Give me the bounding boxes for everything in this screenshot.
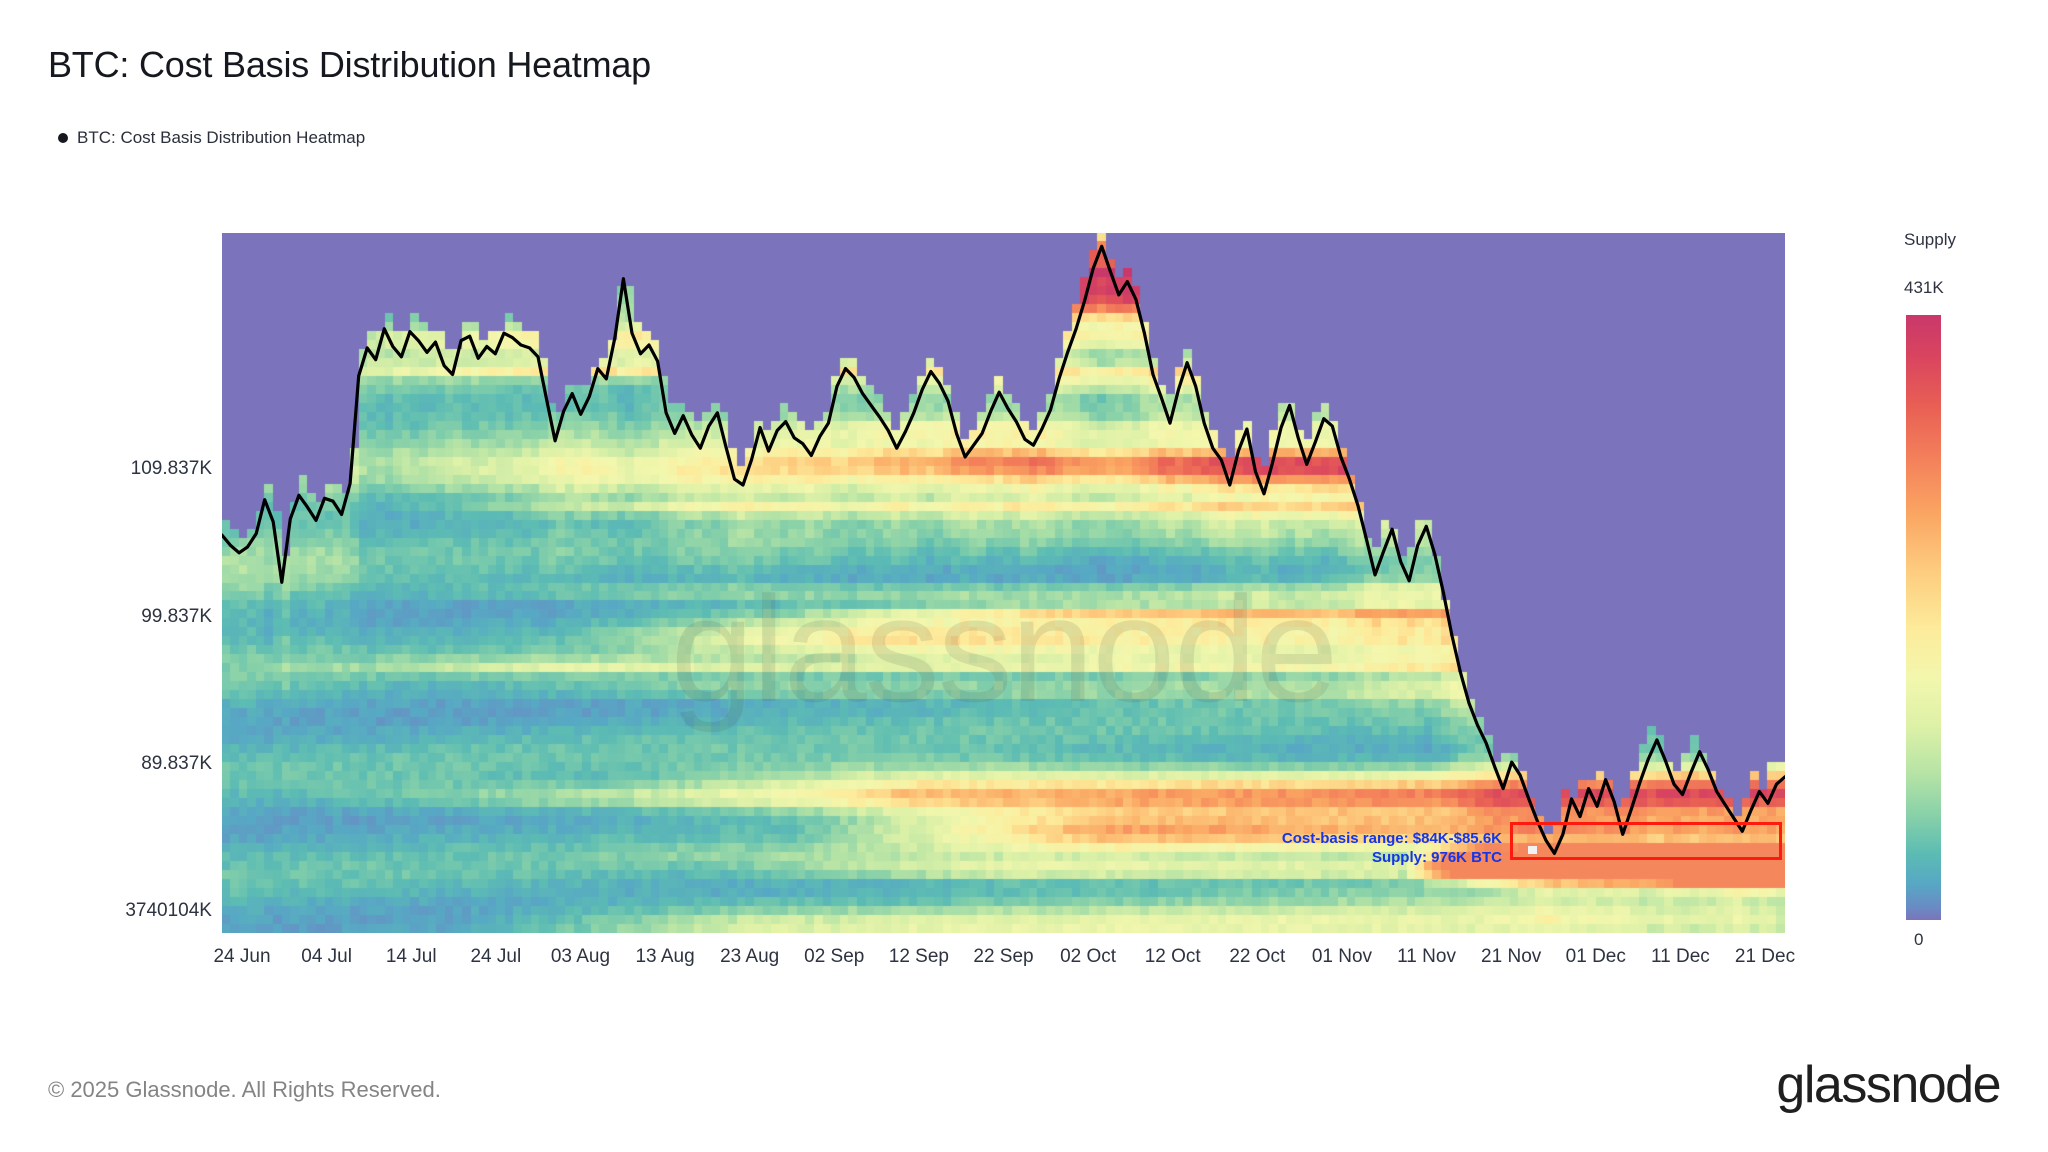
annotation-line-supply: Supply: 976K BTC bbox=[1262, 848, 1502, 867]
y-axis-tick-label: 89.837K bbox=[2, 753, 212, 775]
x-axis-tick-label: 21 Nov bbox=[1481, 946, 1541, 968]
colorbar: Supply 431K 0 bbox=[1888, 230, 2038, 970]
chart-page: BTC: Cost Basis Distribution Heatmap BTC… bbox=[0, 0, 2048, 1152]
x-axis: 24 Jun04 Jul14 Jul24 Jul03 Aug13 Aug23 A… bbox=[222, 946, 1785, 986]
x-axis-tick-label: 22 Oct bbox=[1229, 946, 1285, 968]
x-axis-tick-label: 01 Dec bbox=[1566, 946, 1626, 968]
highlight-marker bbox=[1528, 846, 1537, 854]
x-axis-tick-label: 12 Oct bbox=[1145, 946, 1201, 968]
colorbar-gradient bbox=[1906, 315, 1941, 920]
x-axis-tick-label: 14 Jul bbox=[386, 946, 437, 968]
x-axis-tick-label: 02 Oct bbox=[1060, 946, 1116, 968]
x-axis-tick-label: 11 Dec bbox=[1651, 946, 1710, 968]
x-axis-tick-label: 02 Sep bbox=[804, 946, 864, 968]
x-axis-tick-label: 21 Dec bbox=[1735, 946, 1795, 968]
x-axis-tick-label: 24 Jun bbox=[213, 946, 270, 968]
heatmap-plot-area[interactable]: glassnode bbox=[222, 233, 1785, 933]
y-axis-tick-label: 109.837K bbox=[2, 458, 212, 480]
footer-copyright: © 2025 Glassnode. All Rights Reserved. bbox=[48, 1077, 441, 1103]
x-axis-tick-label: 12 Sep bbox=[889, 946, 949, 968]
glassnode-logo: glassnode bbox=[1776, 1055, 2000, 1115]
y-axis-tick-label: 99.837K bbox=[2, 606, 212, 628]
x-axis-tick-label: 23 Aug bbox=[720, 946, 779, 968]
colorbar-min-label: 0 bbox=[1914, 930, 1923, 950]
price-line-overlay bbox=[222, 233, 1785, 933]
x-axis-tick-label: 24 Jul bbox=[470, 946, 521, 968]
x-axis-tick-label: 11 Nov bbox=[1397, 946, 1456, 968]
colorbar-title: Supply bbox=[1904, 230, 1956, 250]
annotation-line-range: Cost-basis range: $84K-$85.6K bbox=[1262, 829, 1502, 848]
cost-basis-annotation: Cost-basis range: $84K-$85.6K Supply: 97… bbox=[1262, 829, 1502, 867]
y-axis: 109.837K99.837K89.837K3740104K bbox=[0, 0, 212, 1152]
y-axis-tick-label: 3740104K bbox=[42, 900, 212, 922]
x-axis-tick-label: 01 Nov bbox=[1312, 946, 1372, 968]
x-axis-tick-label: 04 Jul bbox=[301, 946, 352, 968]
x-axis-tick-label: 03 Aug bbox=[551, 946, 610, 968]
x-axis-tick-label: 13 Aug bbox=[635, 946, 694, 968]
colorbar-max-label: 431K bbox=[1904, 278, 1944, 298]
x-axis-tick-label: 22 Sep bbox=[973, 946, 1033, 968]
